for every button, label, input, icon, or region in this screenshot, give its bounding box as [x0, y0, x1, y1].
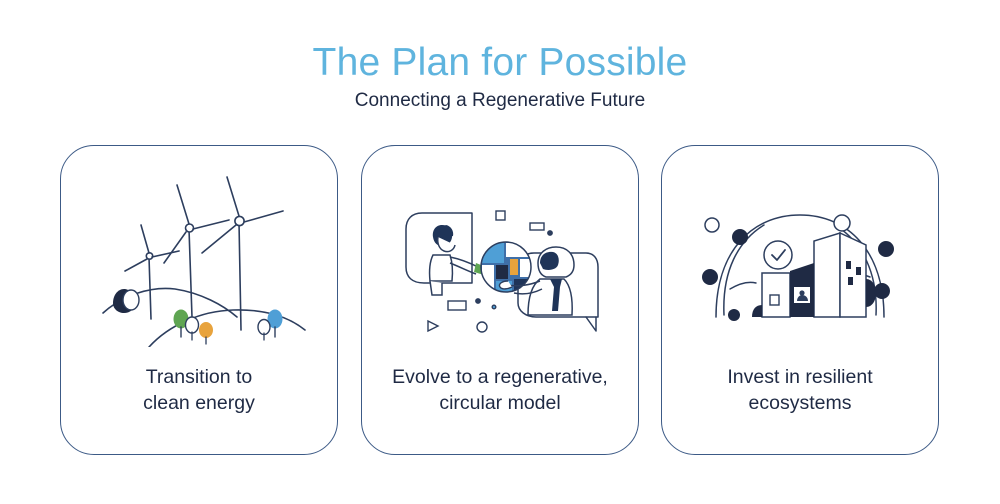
slide-canvas: The Plan for Possible Connecting a Regen…	[0, 0, 1000, 504]
card-resilient-ecosystems[interactable]: Invest in resilient ecosystems	[661, 145, 939, 455]
page-title: The Plan for Possible	[0, 40, 1000, 86]
card-label-line-1: Transition to	[75, 364, 323, 390]
wind-turbines-illustration	[61, 162, 337, 352]
card-label: Evolve to a regenerative, circular model	[376, 364, 624, 416]
card-label-line-1: Invest in resilient	[676, 364, 924, 390]
card-label-line-1: Evolve to a regenerative,	[376, 364, 624, 390]
card-label-line-2: ecosystems	[676, 390, 924, 416]
card-label-line-2: clean energy	[75, 390, 323, 416]
card-label: Invest in resilient ecosystems	[676, 364, 924, 416]
card-label: Transition to clean energy	[75, 364, 323, 416]
card-label-line-2: circular model	[376, 390, 624, 416]
card-transition-clean-energy[interactable]: Transition to clean energy	[60, 145, 338, 455]
people-exchange-circular-illustration	[362, 162, 638, 352]
protected-buildings-illustration	[662, 162, 938, 352]
card-regenerative-circular-model[interactable]: Evolve to a regenerative, circular model	[361, 145, 639, 455]
page-subtitle: Connecting a Regenerative Future	[0, 88, 1000, 114]
